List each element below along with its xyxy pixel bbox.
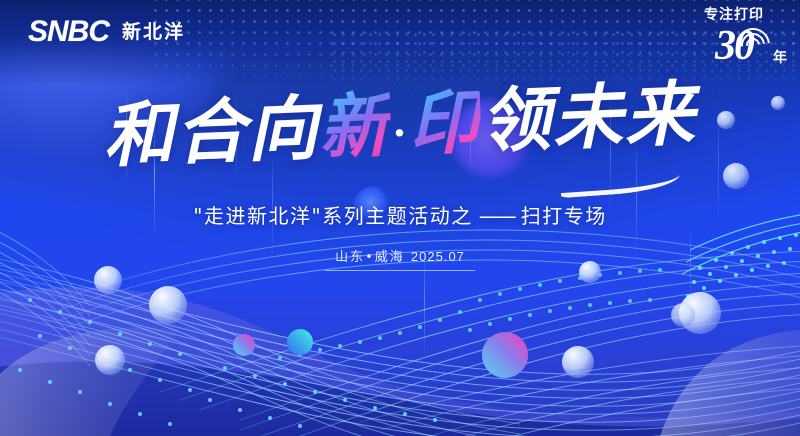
headline-part-1: 和合向 [102,91,321,176]
subtitle: "走进新北洋"系列主题活动之——扫打专场 [0,200,800,229]
logo-chinese-name: 新北洋 [122,23,185,42]
headline-separator: · [390,107,409,159]
decorative-sphere-10 [723,163,749,189]
decorative-sphere-2 [149,286,187,324]
snbc-logo-icon: SNBC [28,17,111,47]
swirl-arc-icon [736,28,772,64]
headline-part-3: 印 [407,85,482,165]
subtitle-tail: 扫打专场 [521,204,607,228]
brand-logo[interactable]: SNBC 新北洋 [28,17,185,47]
anniversary-badge: 专注打印 30 年 [680,8,788,68]
subtitle-quoted: "走进新北洋" [193,204,322,228]
dateline-date: 2025.07 [411,249,465,264]
badge-unit: 年 [773,47,787,67]
logo-wordmark: SNBC [28,15,109,48]
decorative-sphere-7 [562,346,594,378]
dateline: 山东•威海 2025.07 [0,246,800,271]
decorative-sphere-magenta-small [233,334,255,356]
decorative-sphere-6 [671,303,695,327]
headline-part-4: 领未来 [479,77,698,162]
headline-part-2: 新 [318,88,393,168]
badge-tagline: 专注打印 [680,8,788,22]
event-banner: SNBC 新北洋 专注打印 30 年 和合向新·印领未来 "走进新北洋"系列主题… [0,0,800,436]
decorative-sphere-magenta [482,332,528,378]
subtitle-middle: 系列主题活动之 [322,204,473,228]
decorative-sphere-3 [95,345,125,375]
dateline-location: 山东•威海 [335,250,405,265]
subtitle-dash: —— [473,204,521,228]
decorative-sphere-cyan [287,329,313,355]
